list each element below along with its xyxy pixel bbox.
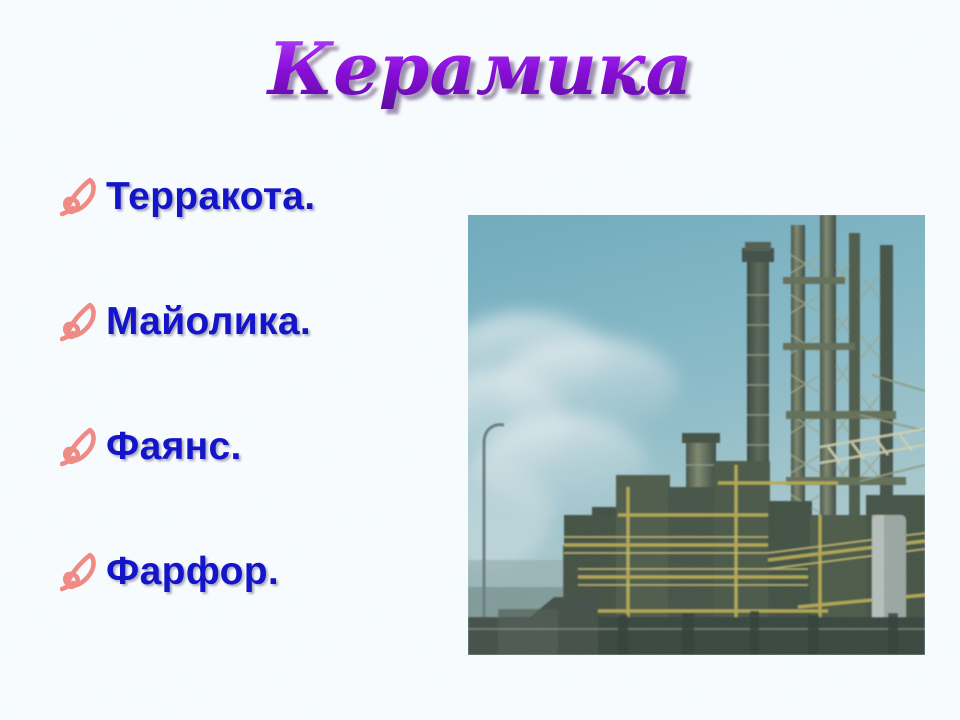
list-item: Майолика. — [60, 291, 460, 351]
bullet-list: Терракота. Майолика. Фаянс. — [60, 166, 460, 601]
list-item: Фарфор. — [60, 541, 460, 601]
slide-canvas: Керамика Терракота. Майолика. — [0, 0, 960, 720]
list-item: Терракота. — [60, 166, 460, 226]
list-item-label: Фарфор. — [106, 552, 279, 591]
list-item-label: Фаянс. — [106, 427, 242, 466]
ribbon-bow-bullet-icon — [60, 175, 100, 217]
industrial-refinery-photo — [468, 215, 925, 655]
ribbon-bow-bullet-icon — [60, 550, 100, 592]
list-item-label: Терракота. — [106, 177, 315, 216]
list-item: Фаянс. — [60, 416, 460, 476]
list-item-label: Майолика. — [106, 302, 311, 341]
ribbon-bow-bullet-icon — [60, 425, 100, 467]
refinery-illustration — [468, 215, 925, 655]
ribbon-bow-bullet-icon — [60, 300, 100, 342]
